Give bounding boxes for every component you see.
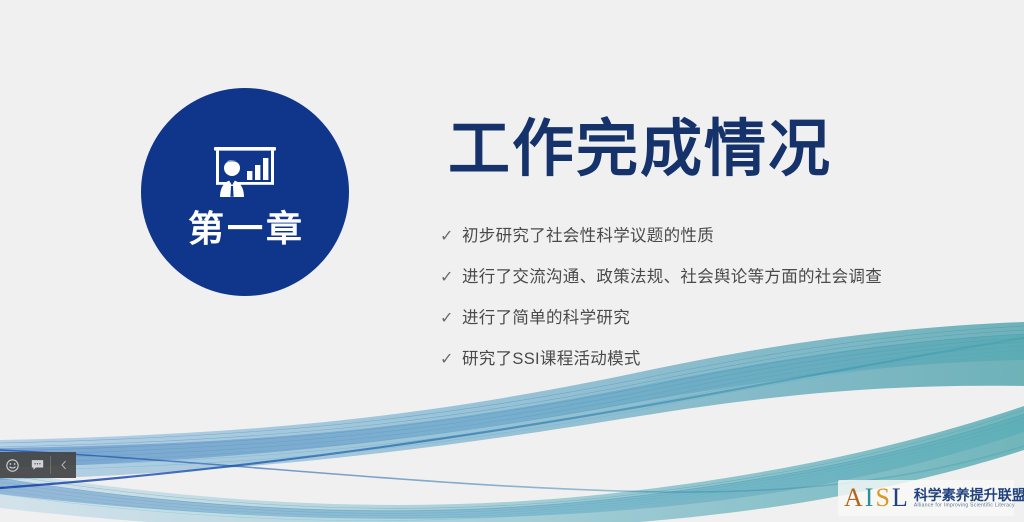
list-item-label: 研究了SSI课程活动模式 xyxy=(462,351,641,368)
chapter-badge: 第一章 xyxy=(141,88,349,296)
presentation-board-icon xyxy=(206,141,284,207)
chat-bubble-icon[interactable] xyxy=(25,452,50,478)
checkmark-icon: ✓ xyxy=(440,311,462,327)
logo-letter-s: S xyxy=(875,483,891,512)
list-item-label: 初步研究了社会性科学议题的性质 xyxy=(462,228,714,245)
list-item-label: 进行了简单的科学研究 xyxy=(462,310,630,327)
checkmark-icon: ✓ xyxy=(440,270,462,286)
page-title: 工作完成情况 xyxy=(448,119,832,181)
aisl-chinese-name: 科学素养提升联盟 xyxy=(914,488,1024,503)
list-item: ✓ 进行了简单的科学研究 xyxy=(440,310,960,351)
checkmark-icon: ✓ xyxy=(440,229,462,245)
emoji-glyph xyxy=(6,459,19,472)
logo-letter-i: I xyxy=(865,483,876,512)
chapter-label: 第一章 xyxy=(185,211,305,247)
floating-mini-toolbar[interactable] xyxy=(0,452,76,478)
collapse-chevron-icon[interactable] xyxy=(51,452,76,478)
list-item: ✓ 研究了SSI课程活动模式 xyxy=(440,351,960,392)
achievements-list: ✓ 初步研究了社会性科学议题的性质 ✓ 进行了交流沟通、政策法规、社会舆论等方面… xyxy=(440,228,960,392)
chat-glyph xyxy=(31,459,44,471)
presentation-slide: 第一章 工作完成情况 ✓ 初步研究了社会性科学议题的性质 ✓ 进行了交流沟通、政… xyxy=(0,0,1024,522)
emoji-icon[interactable] xyxy=(0,452,25,478)
list-item: ✓ 初步研究了社会性科学议题的性质 xyxy=(440,228,960,269)
checkmark-icon: ✓ xyxy=(440,352,462,368)
list-item: ✓ 进行了交流沟通、政策法规、社会舆论等方面的社会调查 xyxy=(440,269,960,310)
aisl-logo: AISL 科学素养提升联盟 Alliance for Improving Sci… xyxy=(838,480,1014,516)
logo-letter-l: L xyxy=(892,483,910,512)
logo-letter-a: A xyxy=(844,483,865,512)
chevron-left-glyph xyxy=(60,460,68,470)
aisl-wordmark: AISL xyxy=(844,485,910,511)
list-item-label: 进行了交流沟通、政策法规、社会舆论等方面的社会调查 xyxy=(462,269,882,286)
aisl-english-name: Alliance for Improving Scientific Litera… xyxy=(914,502,1024,509)
aisl-name-block: 科学素养提升联盟 Alliance for Improving Scientif… xyxy=(914,488,1024,509)
